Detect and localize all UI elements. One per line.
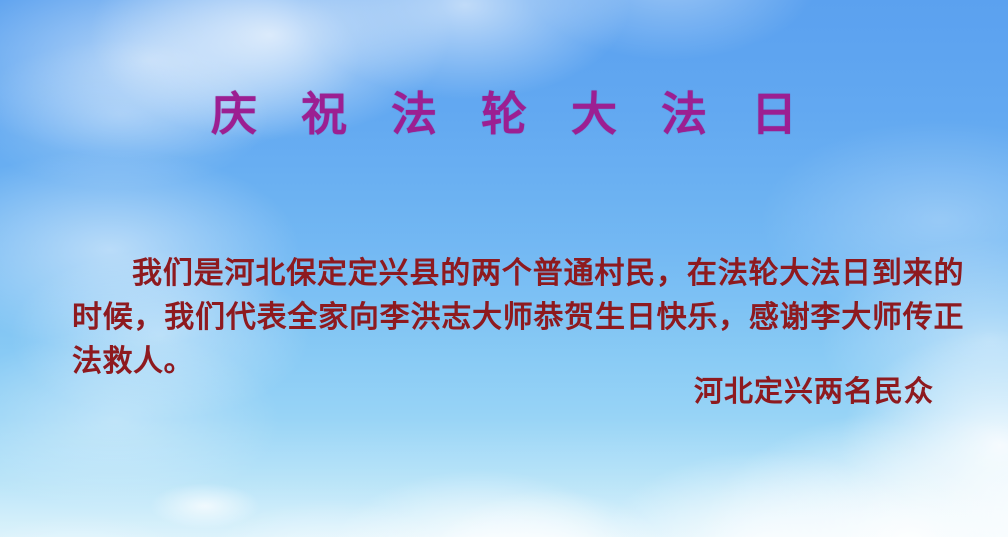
poster-content: 庆 祝 法 轮 大 法 日 我们是河北保定定兴县的两个普通村民，在法轮大法日到来… — [0, 0, 1008, 537]
poster-title: 庆 祝 法 轮 大 法 日 — [0, 88, 1008, 141]
poster-body-text: 我们是河北保定定兴县的两个普通村民，在法轮大法日到来的时候，我们代表全家向李洪志… — [72, 252, 964, 384]
greeting-poster: 庆 祝 法 轮 大 法 日 我们是河北保定定兴县的两个普通村民，在法轮大法日到来… — [0, 0, 1008, 537]
poster-signature: 河北定兴两名民众 — [72, 368, 934, 410]
